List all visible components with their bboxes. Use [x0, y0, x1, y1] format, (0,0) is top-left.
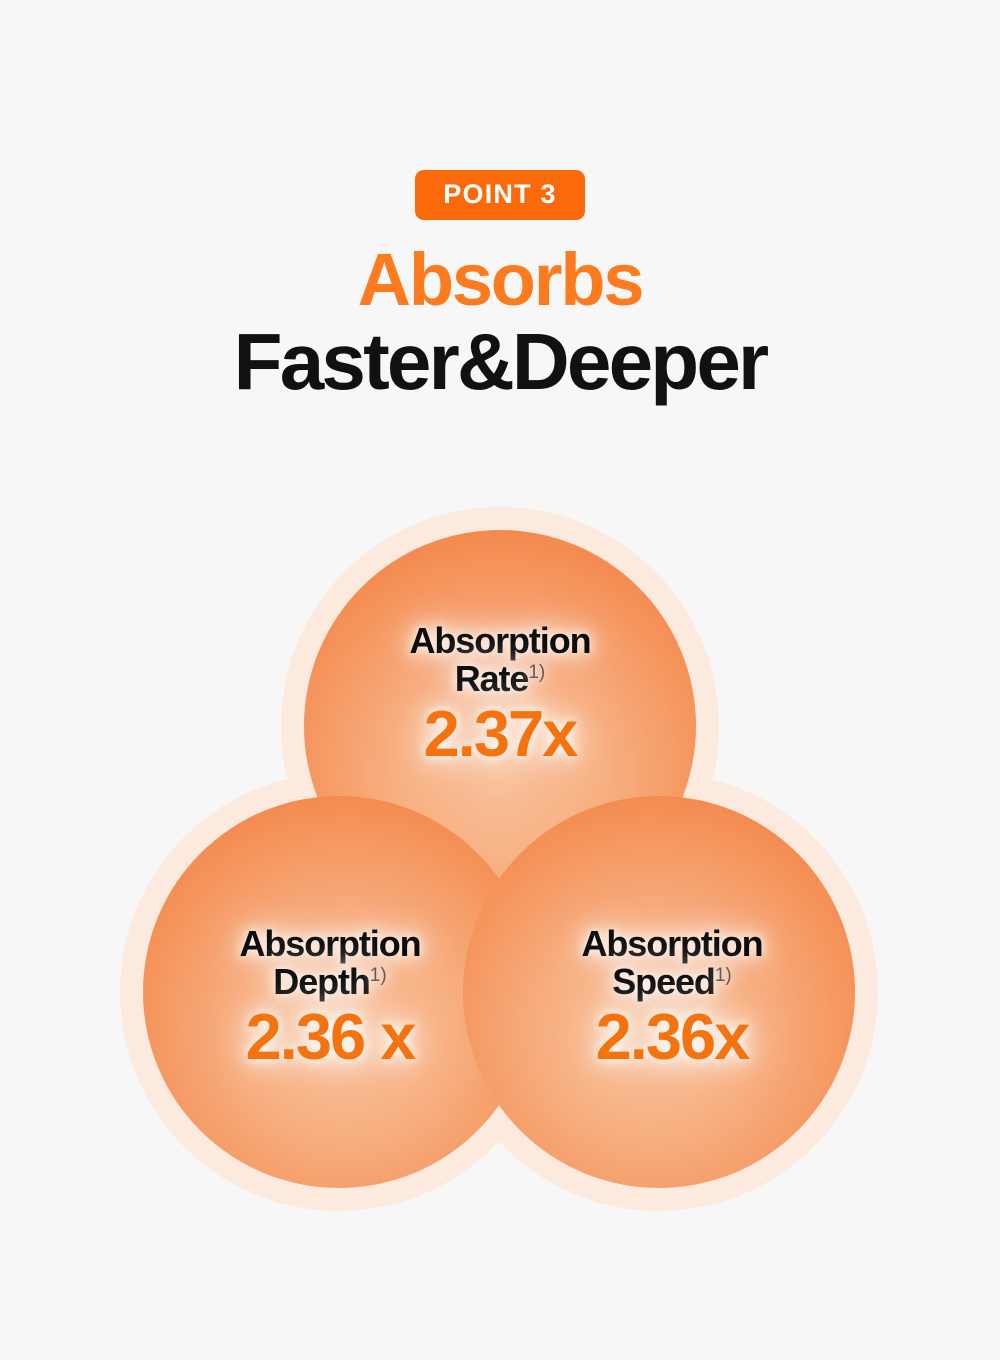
venn-label-absorption-depth: Absorption Depth1) 2.36 x [150, 925, 510, 1072]
title-line-1: Absorbs [0, 242, 1000, 317]
point-badge: POINT 3 [415, 170, 584, 220]
venn-label-name-depth: Absorption Depth1) [150, 925, 510, 1001]
venn-label-absorption-rate: Absorption Rate1) 2.37x [320, 622, 680, 769]
venn-label-name-depth-line2: Depth [273, 961, 370, 1002]
venn-label-name-rate-line2: Rate [455, 658, 529, 699]
venn-label-absorption-speed: Absorption Speed1) 2.36x [492, 925, 852, 1072]
venn-label-name-speed: Absorption Speed1) [492, 925, 852, 1001]
title-line-2: Faster&Deeper [0, 319, 1000, 405]
venn-label-name-speed-line2: Speed [612, 961, 715, 1002]
footnote-marker-rate: 1) [528, 662, 545, 683]
page-title: Absorbs Faster&Deeper [0, 242, 1000, 406]
venn-value-depth: 2.36 x [150, 1003, 510, 1072]
footnote-marker-depth: 1) [370, 965, 387, 986]
venn-value-speed: 2.36x [492, 1003, 852, 1072]
poster-root: POINT 3 Absorbs Faster&Deeper Absorption… [0, 0, 1000, 1360]
venn-label-name-rate-line1: Absorption [410, 620, 591, 661]
venn-value-rate: 2.37x [320, 700, 680, 769]
venn-halos [120, 507, 878, 1211]
venn-label-name-depth-line1: Absorption [240, 923, 421, 964]
badge-wrap: POINT 3 [0, 170, 1000, 220]
venn-label-name-rate: Absorption Rate1) [320, 622, 680, 698]
venn-label-name-speed-line1: Absorption [582, 923, 763, 964]
header: POINT 3 Absorbs Faster&Deeper [0, 0, 1000, 406]
footnote-marker-speed: 1) [715, 965, 732, 986]
